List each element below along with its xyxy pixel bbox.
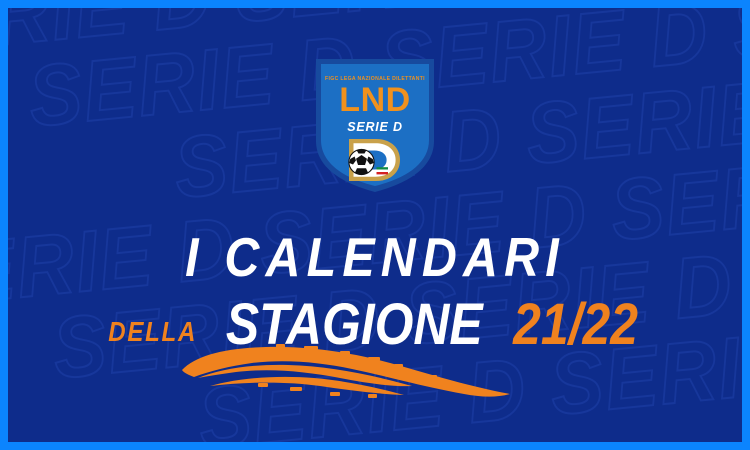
brush-stroke	[180, 342, 530, 404]
tricolor-red	[377, 172, 389, 174]
crest-division-label: SERIE D	[347, 120, 403, 134]
crest-d-emblem	[349, 139, 400, 181]
headline-block: I CALENDARI DELLASTAGIONE21/22	[8, 230, 742, 358]
lnd-serie-d-crest: FIGC LEGA NAZIONALE DILETTANTI LND SERIE…	[314, 55, 436, 195]
brush-stroke-shape	[182, 344, 510, 398]
poster-background: SERIE D SERIE D SERIE D SERIE D SERIE D …	[8, 8, 742, 442]
tricolor-white	[377, 170, 389, 172]
tricolor-green	[377, 167, 389, 169]
headline-line-1: I CALENDARI	[52, 230, 698, 285]
headline-season: 21/22	[514, 291, 639, 358]
crest-acronym: LND	[339, 81, 410, 119]
poster: SERIE D SERIE D SERIE D SERIE D SERIE D …	[0, 0, 750, 450]
